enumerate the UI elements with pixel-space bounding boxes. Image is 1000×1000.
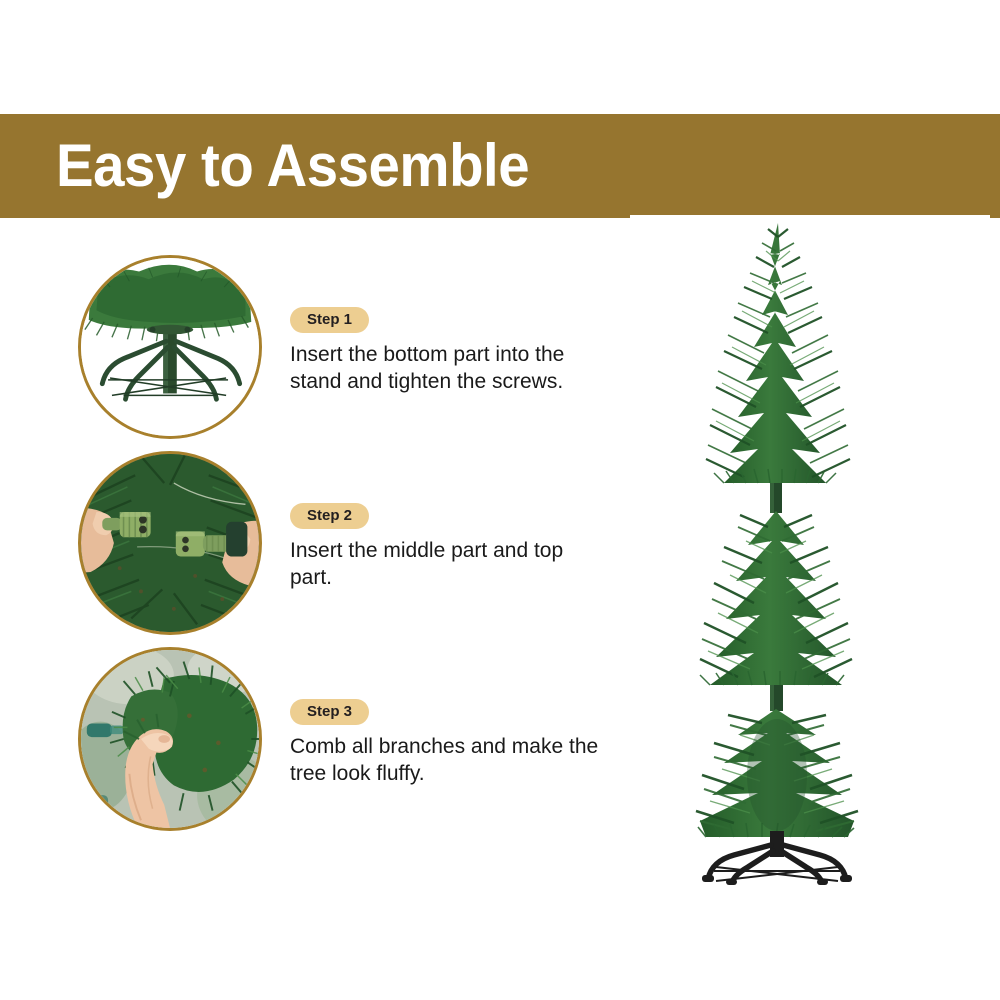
pole-connector-lower — [770, 685, 783, 711]
step-3-text: Step 3 Comb all branches and make the tr… — [290, 699, 620, 787]
tree-base-in-stand-photo — [81, 258, 259, 436]
steps-list: Step 1 Insert the bottom part into the s… — [0, 255, 640, 843]
step-description: Comb all branches and make the tree look… — [290, 734, 610, 787]
step-3-thumbnail — [78, 647, 262, 831]
step-2-text: Step 2 Insert the middle part and top pa… — [290, 503, 620, 591]
pole-connector-upper — [770, 483, 782, 513]
step-description: Insert the bottom part into the stand an… — [290, 342, 610, 395]
three-section-christmas-tree-photo — [630, 215, 990, 885]
list-item: Step 1 Insert the bottom part into the s… — [0, 255, 640, 451]
page-title: Easy to Assemble — [56, 136, 529, 196]
status-badge: Step 2 — [290, 503, 369, 529]
step-1-thumbnail — [78, 255, 262, 439]
status-badge: Step 1 — [290, 307, 369, 333]
step-description: Insert the middle part and top part. — [290, 538, 610, 591]
list-item: Step 3 Comb all branches and make the tr… — [0, 647, 640, 843]
product-image — [630, 215, 990, 885]
header-banner: Easy to Assemble — [0, 114, 1000, 218]
infographic-page: Easy to Assemble — [0, 0, 1000, 1000]
step-1-text: Step 1 Insert the bottom part into the s… — [290, 307, 620, 395]
step-2-thumbnail — [78, 451, 262, 635]
hands-joining-pole-connectors-photo — [81, 454, 259, 632]
list-item: Step 2 Insert the middle part and top pa… — [0, 451, 640, 647]
hand-fluffing-branches-photo — [81, 650, 259, 828]
status-badge: Step 3 — [290, 699, 369, 725]
